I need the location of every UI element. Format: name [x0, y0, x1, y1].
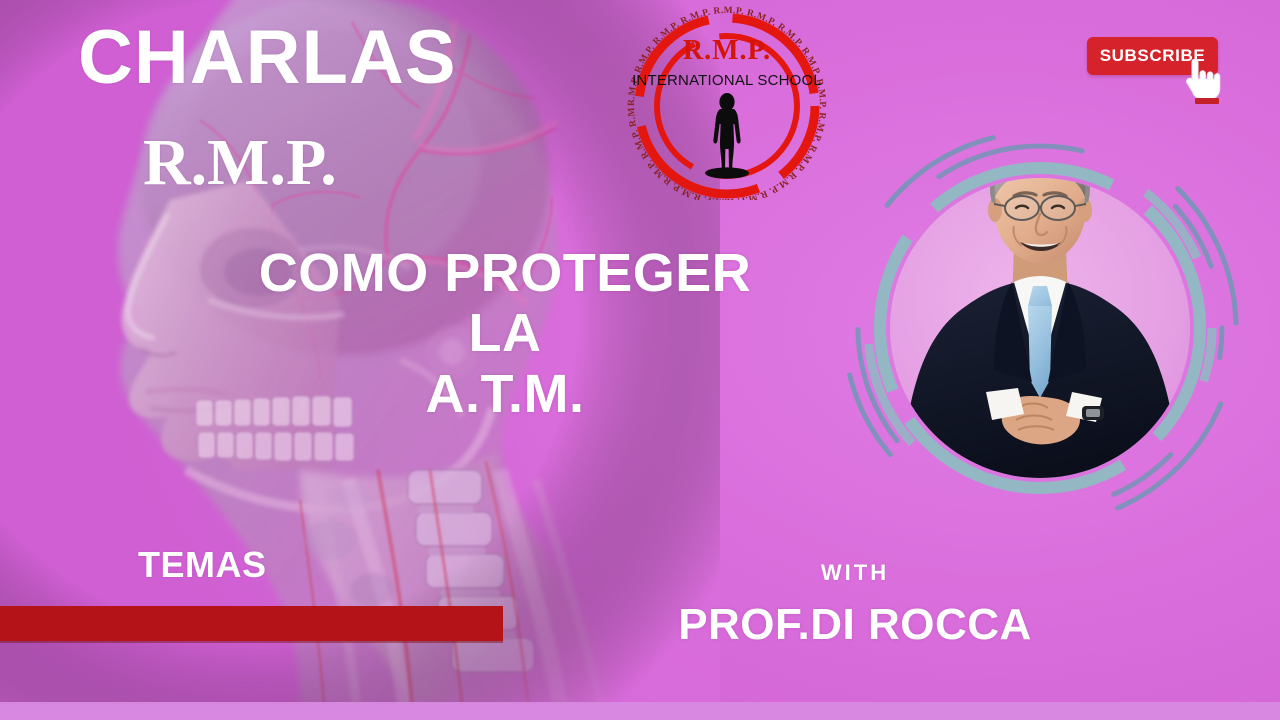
- subject-line-2: LA: [180, 303, 830, 363]
- red-accent-bar: [0, 606, 503, 641]
- presenter-name: PROF.DI ROCCA: [645, 600, 1065, 650]
- presenter-portrait: [836, 130, 1244, 550]
- rmp-logo: R.M.P. R.M.P. R.M.P. R.M.P. R.M.P. R.M.P…: [617, 5, 837, 200]
- subject-line-1: COMO PROTEGER: [259, 243, 752, 303]
- human-figure-silhouette-icon: [705, 93, 749, 179]
- page-title-charlas: CHARLAS: [78, 14, 457, 101]
- with-label: WITH: [645, 560, 1065, 586]
- section-label-temas: TEMAS: [138, 544, 267, 586]
- subject-line-3: A.T.M.: [180, 364, 830, 424]
- subject-title: COMO PROTEGER LA A.T.M.: [180, 243, 830, 424]
- bottom-color-strip: [0, 702, 1280, 720]
- subscribe-button[interactable]: SUBSCRIBE: [1087, 37, 1218, 75]
- subscribe-widget[interactable]: SUBSCRIBE: [1087, 37, 1227, 89]
- thumbnail-canvas: CHARLAS R.M.P. COMO PROTEGER LA A.T.M. T…: [0, 0, 1280, 720]
- logo-school-name: INTERNATIONAL SCHOOL: [632, 72, 822, 89]
- logo-acronym: R.M.P.: [683, 35, 771, 66]
- page-title-rmp: R.M.P.: [143, 125, 337, 201]
